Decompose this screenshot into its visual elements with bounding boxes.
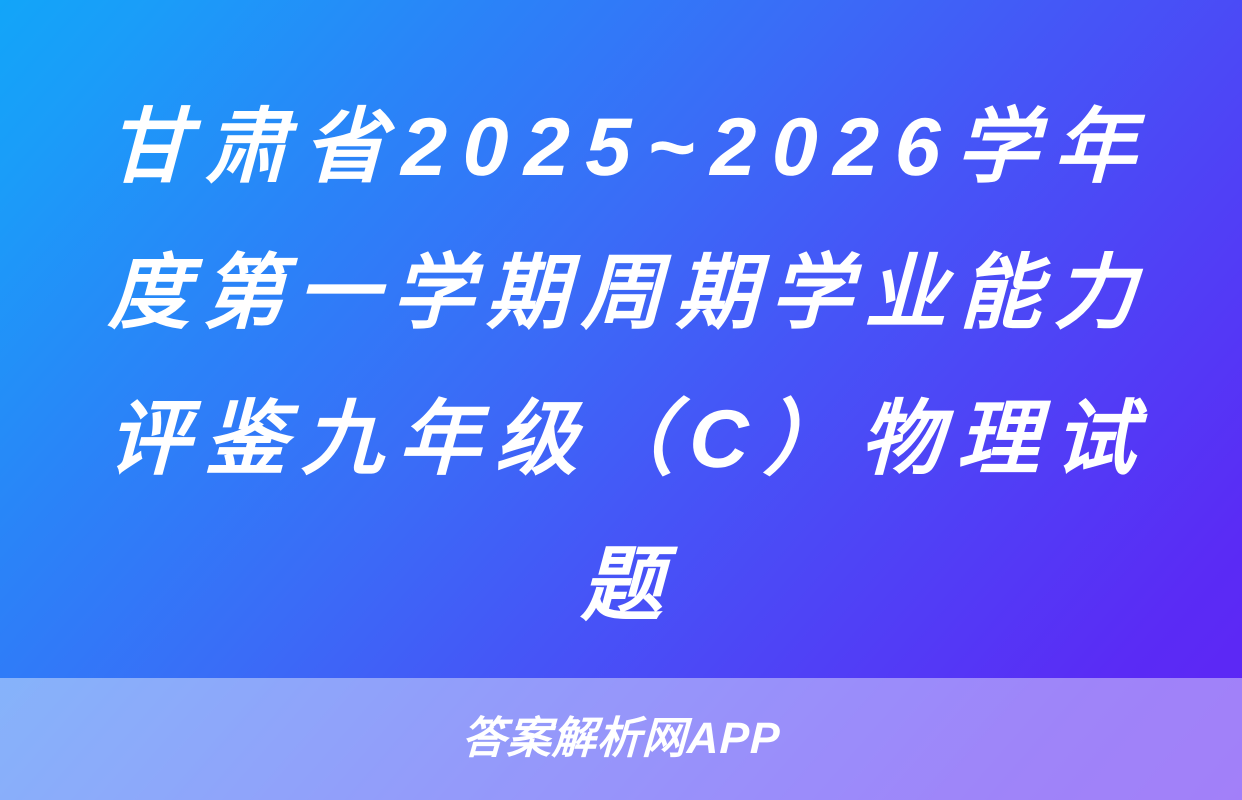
title-char: 学 xyxy=(769,250,853,338)
title-char: 评 xyxy=(107,396,191,484)
title-char: 题 xyxy=(580,542,664,630)
title-char: 2 xyxy=(401,104,448,192)
title-char: 5 xyxy=(585,104,632,192)
title-char: 周 xyxy=(580,250,664,338)
title-char: 期 xyxy=(486,250,570,338)
title-char: C xyxy=(688,396,749,484)
title-char: 2 xyxy=(710,104,757,192)
title-line-2: 度 第 一 学 期 周 期 学 业 能 力 xyxy=(107,250,1137,338)
title-char: 九 xyxy=(301,396,385,484)
promo-banner: 甘 肃 省 2 0 2 5 ~ 2 0 2 6 学 年 度 第 一 学 期 周 … xyxy=(0,0,1242,800)
title-char: 业 xyxy=(864,250,948,338)
title-char: 能 xyxy=(959,250,1043,338)
title-char: 2 xyxy=(833,104,880,192)
title-char: 鉴 xyxy=(204,396,288,484)
title-char: 学 xyxy=(955,104,1039,192)
title-char: 物 xyxy=(859,396,943,484)
title-char: 级 xyxy=(495,396,579,484)
title-char: 年 xyxy=(1053,104,1137,192)
title-char: 学 xyxy=(391,250,475,338)
title-char: 6 xyxy=(894,104,941,192)
title-char: ） xyxy=(763,396,847,484)
title-char: ~ xyxy=(646,104,695,192)
title-line-4: 题 xyxy=(107,542,1137,630)
title-line-3: 评 鉴 九 年 级 （ C ） 物 理 试 xyxy=(107,396,1137,484)
title-char: 一 xyxy=(296,250,380,338)
title-char: 理 xyxy=(956,396,1040,484)
title-line-1: 甘 肃 省 2 0 2 5 ~ 2 0 2 6 学 年 xyxy=(107,104,1137,192)
title-char: 力 xyxy=(1053,250,1137,338)
footer-brand-label: 答案解析网APP xyxy=(461,713,781,765)
banner-title: 甘 肃 省 2 0 2 5 ~ 2 0 2 6 学 年 度 第 一 学 期 周 … xyxy=(108,104,1136,668)
title-char: 肃 xyxy=(205,104,289,192)
title-char: 省 xyxy=(303,104,387,192)
footer-bar: 答案解析网APP xyxy=(0,678,1242,800)
title-char: 甘 xyxy=(107,104,191,192)
title-char: （ xyxy=(592,396,676,484)
title-char: 2 xyxy=(523,104,570,192)
title-char: 度 xyxy=(107,250,191,338)
title-char: 0 xyxy=(771,104,818,192)
title-char: 试 xyxy=(1053,396,1137,484)
title-char: 年 xyxy=(398,396,482,484)
title-char: 第 xyxy=(202,250,286,338)
title-char: 期 xyxy=(675,250,759,338)
title-char: 0 xyxy=(462,104,509,192)
